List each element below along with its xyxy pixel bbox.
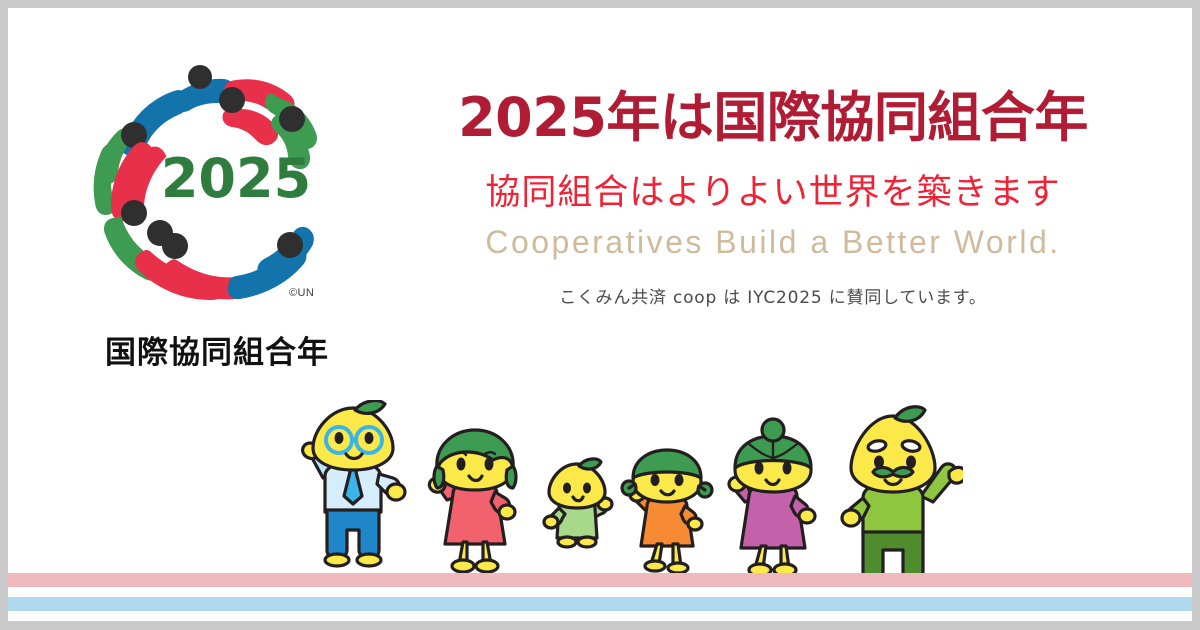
mascot-grandmother	[729, 419, 815, 576]
iyc2025-logo-mark: 2025	[86, 42, 336, 302]
page-title: 2025年は国際協同組合年	[408, 88, 1138, 147]
mascot-mother	[429, 430, 516, 572]
banner-root: 2025 ©UN 国際協同組合年 2025年は国際協同組合年 協同組合はよりよい…	[0, 0, 1200, 630]
subtitle-japanese: 協同組合はよりよい世界を築きます	[408, 173, 1138, 213]
headline-block: 2025年は国際協同組合年 協同組合はよりよい世界を築きます Cooperati…	[408, 88, 1138, 308]
mascot-baby	[544, 459, 612, 547]
logo-year-text: 2025	[161, 147, 311, 210]
banner-card: 2025 ©UN 国際協同組合年 2025年は国際協同組合年 協同組合はよりよい…	[8, 8, 1192, 622]
stripe-pink	[8, 573, 1192, 587]
mascot-grandfather	[842, 407, 963, 585]
logo-copyright: ©UN	[289, 287, 314, 299]
endorsement-note: こくみん共済 coop は IYC2025 に賛同しています。	[408, 283, 1138, 308]
stripe-blue	[8, 597, 1192, 611]
mascot-father	[303, 401, 405, 566]
pear-family-mascots	[263, 400, 963, 585]
stripe-green	[8, 621, 1192, 622]
iyc2025-logo-block: 2025 ©UN 国際協同組合年	[86, 42, 356, 372]
mascot-younger-sister	[622, 450, 712, 573]
logo-caption: 国際協同組合年	[92, 327, 342, 372]
subtitle-english: Cooperatives Build a Better World.	[408, 224, 1138, 261]
